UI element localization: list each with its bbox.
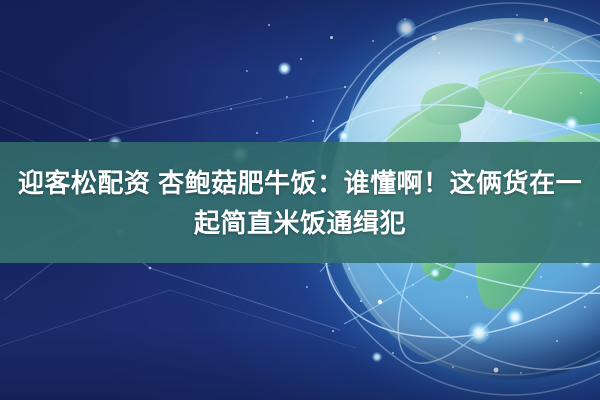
banner-image: 迎客松配资 杏鲍菇肥牛饭：谁懂啊！这俩货在一起简直米饭通缉犯 bbox=[0, 0, 600, 400]
caption-band: 迎客松配资 杏鲍菇肥牛饭：谁懂啊！这俩货在一起简直米饭通缉犯 bbox=[0, 142, 600, 263]
headline-text: 迎客松配资 杏鲍菇肥牛饭：谁懂啊！这俩货在一起简直米饭通缉犯 bbox=[11, 163, 589, 243]
